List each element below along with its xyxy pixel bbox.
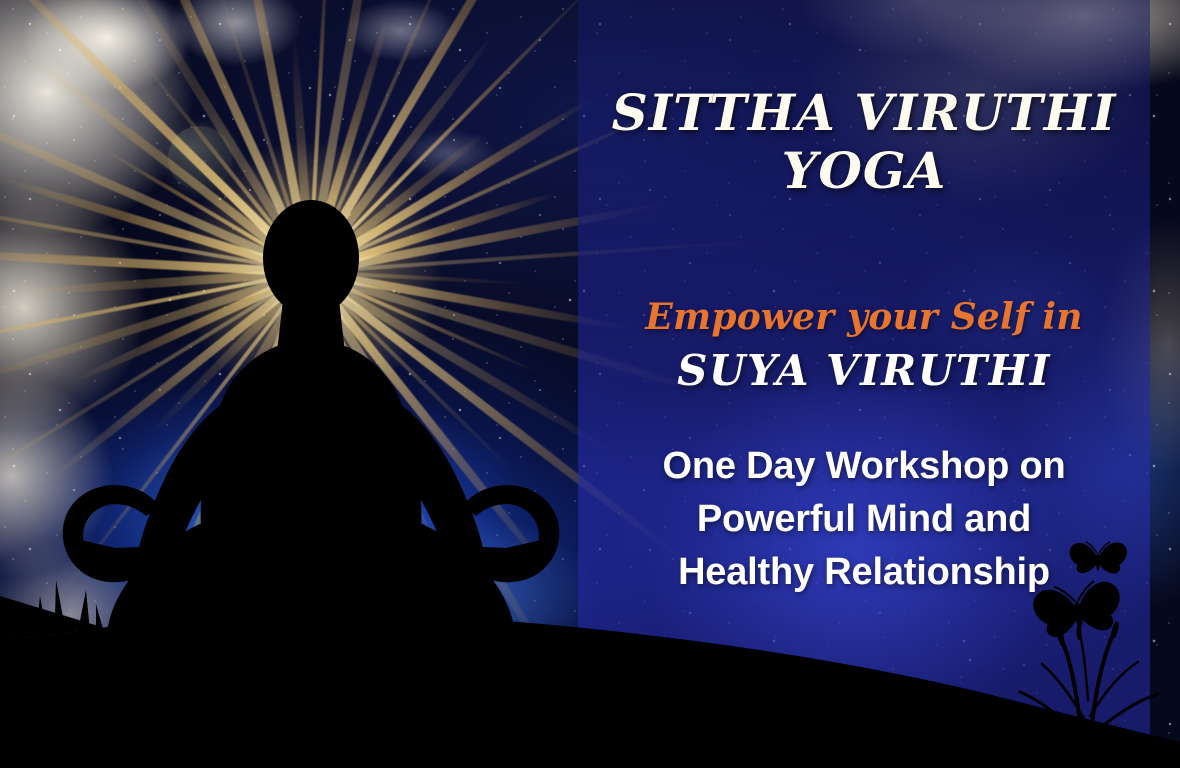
description-line-2: Powerful Mind and — [594, 493, 1134, 546]
title-line-1: SITTHA VIRUTHI — [612, 83, 1117, 142]
page-title: SITTHA VIRUTHI YOGA — [578, 84, 1150, 200]
description-line-3: Healthy Relationship — [594, 546, 1134, 599]
subject-heading: SUYA VIRUTHI — [578, 346, 1150, 396]
title-line-2: YOGA — [592, 142, 1136, 200]
poster-text-column: SITTHA VIRUTHI YOGA Empower your Self in… — [578, 0, 1150, 768]
tagline: Empower your Self in — [578, 296, 1150, 338]
workshop-description: One Day Workshop on Powerful Mind and He… — [578, 440, 1150, 599]
description-line-1: One Day Workshop on — [594, 440, 1134, 493]
yoga-workshop-poster: SITTHA VIRUTHI YOGA Empower your Self in… — [0, 0, 1180, 768]
